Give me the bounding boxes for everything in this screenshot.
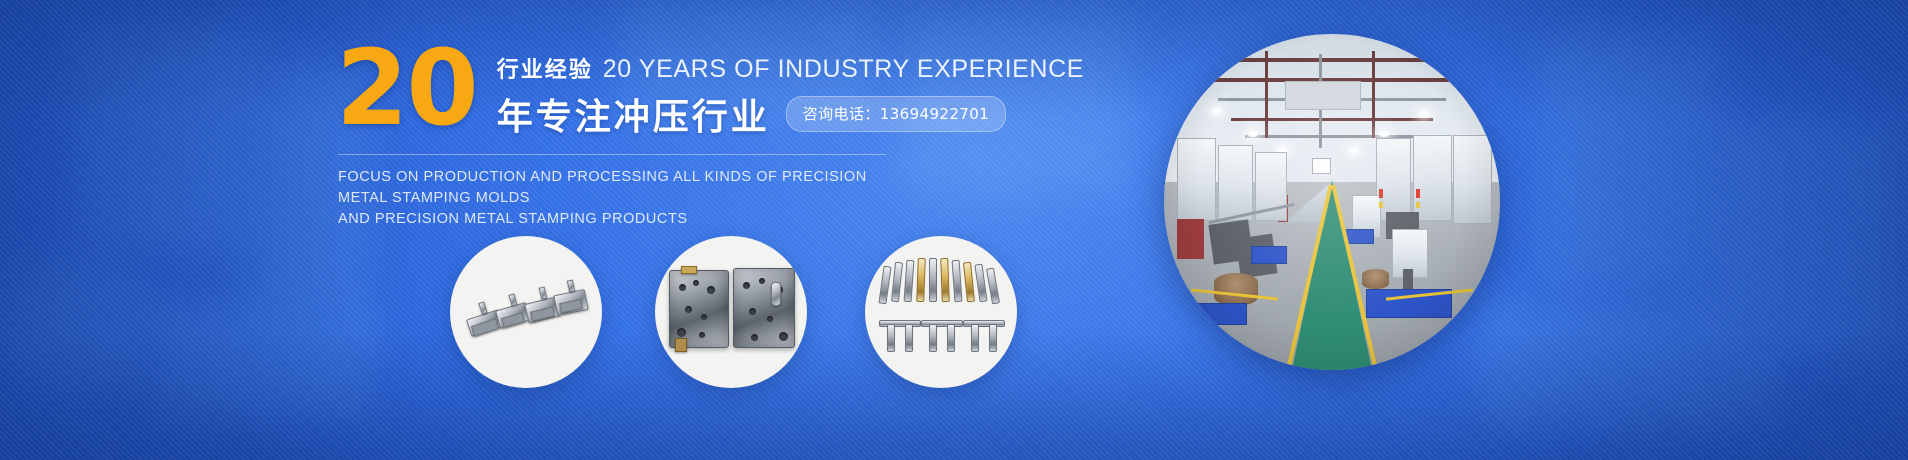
years-number: 20 [336,44,477,133]
promo-banner: 20 行业经验 20 YEARS OF INDUSTRY EXPERIENCE … [0,0,1908,460]
headline-block: 20 行业经验 20 YEARS OF INDUSTRY EXPERIENCE … [336,40,896,230]
headline-text-group: 行业经验 20 YEARS OF INDUSTRY EXPERIENCE 年专注… [497,40,1084,140]
headline-row: 20 行业经验 20 YEARS OF INDUSTRY EXPERIENCE … [336,40,896,140]
factory-workshop-photo[interactable] [1164,34,1500,370]
subcopy-line-1: FOCUS ON PRODUCTION AND PROCESSING ALL K… [338,167,896,209]
headline-line-primary: 行业经验 20 YEARS OF INDUSTRY EXPERIENCE [497,52,1084,84]
stamping-dies-artwork [655,236,807,388]
divider-rule [338,154,886,155]
usb-connectors-thumbnail[interactable] [450,236,602,388]
usb-connectors-artwork [450,236,602,388]
stamping-dies-thumbnail[interactable] [655,236,807,388]
focus-industry-cn: 年专注冲压行业 [497,88,770,140]
phone-badge[interactable]: 咨询电话：13694922701 [786,96,1006,132]
experience-label-cn: 行业经验 [497,52,593,84]
terminal-pins-thumbnail[interactable] [865,236,1017,388]
terminal-pins-artwork [865,236,1017,388]
headline-line-secondary: 年专注冲压行业 咨询电话：13694922701 [497,88,1084,140]
subcopy: FOCUS ON PRODUCTION AND PROCESSING ALL K… [338,167,896,230]
subcopy-line-2: AND PRECISION METAL STAMPING PRODUCTS [338,209,896,230]
experience-label-en: 20 YEARS OF INDUSTRY EXPERIENCE [603,55,1084,84]
